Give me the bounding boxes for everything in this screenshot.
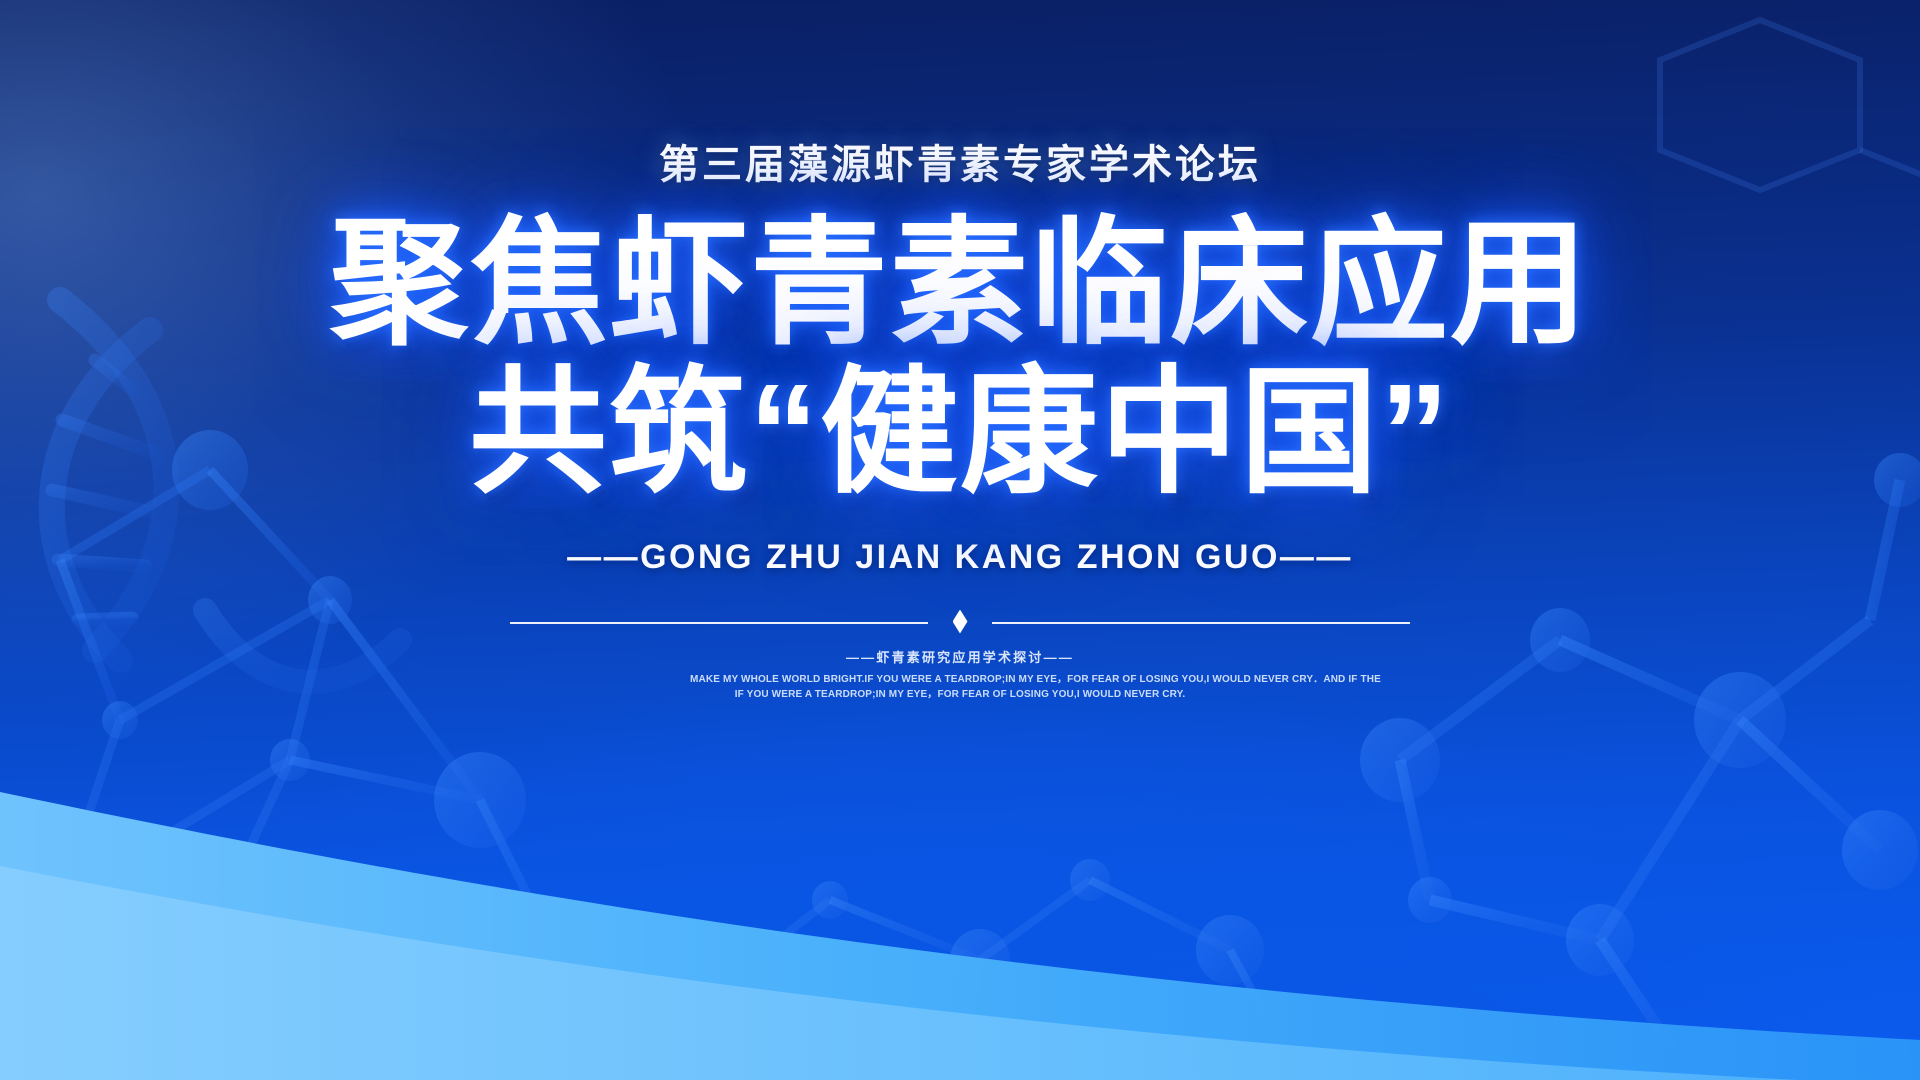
poster-canvas: 第三届藻源虾青素专家学术论坛 聚焦虾青素临床应用 共筑“健康中国” ——GONG… [0,0,1920,1080]
subtitle-chinese: ——虾青素研究应用学术探讨—— [846,647,1074,666]
divider-line-left [510,622,928,624]
title-line-2: 共筑“健康中国” [330,363,1590,504]
diamond-icon [953,610,968,634]
title-pinyin: ——GONG ZHU JIAN KANG ZHON GUO—— [567,538,1353,577]
event-eyebrow: 第三届藻源虾青素专家学术论坛 [659,132,1261,190]
divider [510,611,1410,633]
subtitle-english-line-1: MAKE MY WHOLE WORLD BRIGHT.IF YOU WERE A… [690,672,1230,688]
poster-content: 第三届藻源虾青素专家学术论坛 聚焦虾青素临床应用 共筑“健康中国” ——GONG… [0,0,1920,1080]
title-line-1: 聚焦虾青素临床应用 [330,214,1590,355]
divider-line-right [992,622,1410,624]
subtitle-english-line-2: IF YOU WERE A TEARDROP;IN MY EYE，FOR FEA… [690,687,1230,703]
page-title: 聚焦虾青素临床应用 共筑“健康中国” [330,214,1590,504]
subtitle-english-block: MAKE MY WHOLE WORLD BRIGHT.IF YOU WERE A… [690,672,1230,703]
